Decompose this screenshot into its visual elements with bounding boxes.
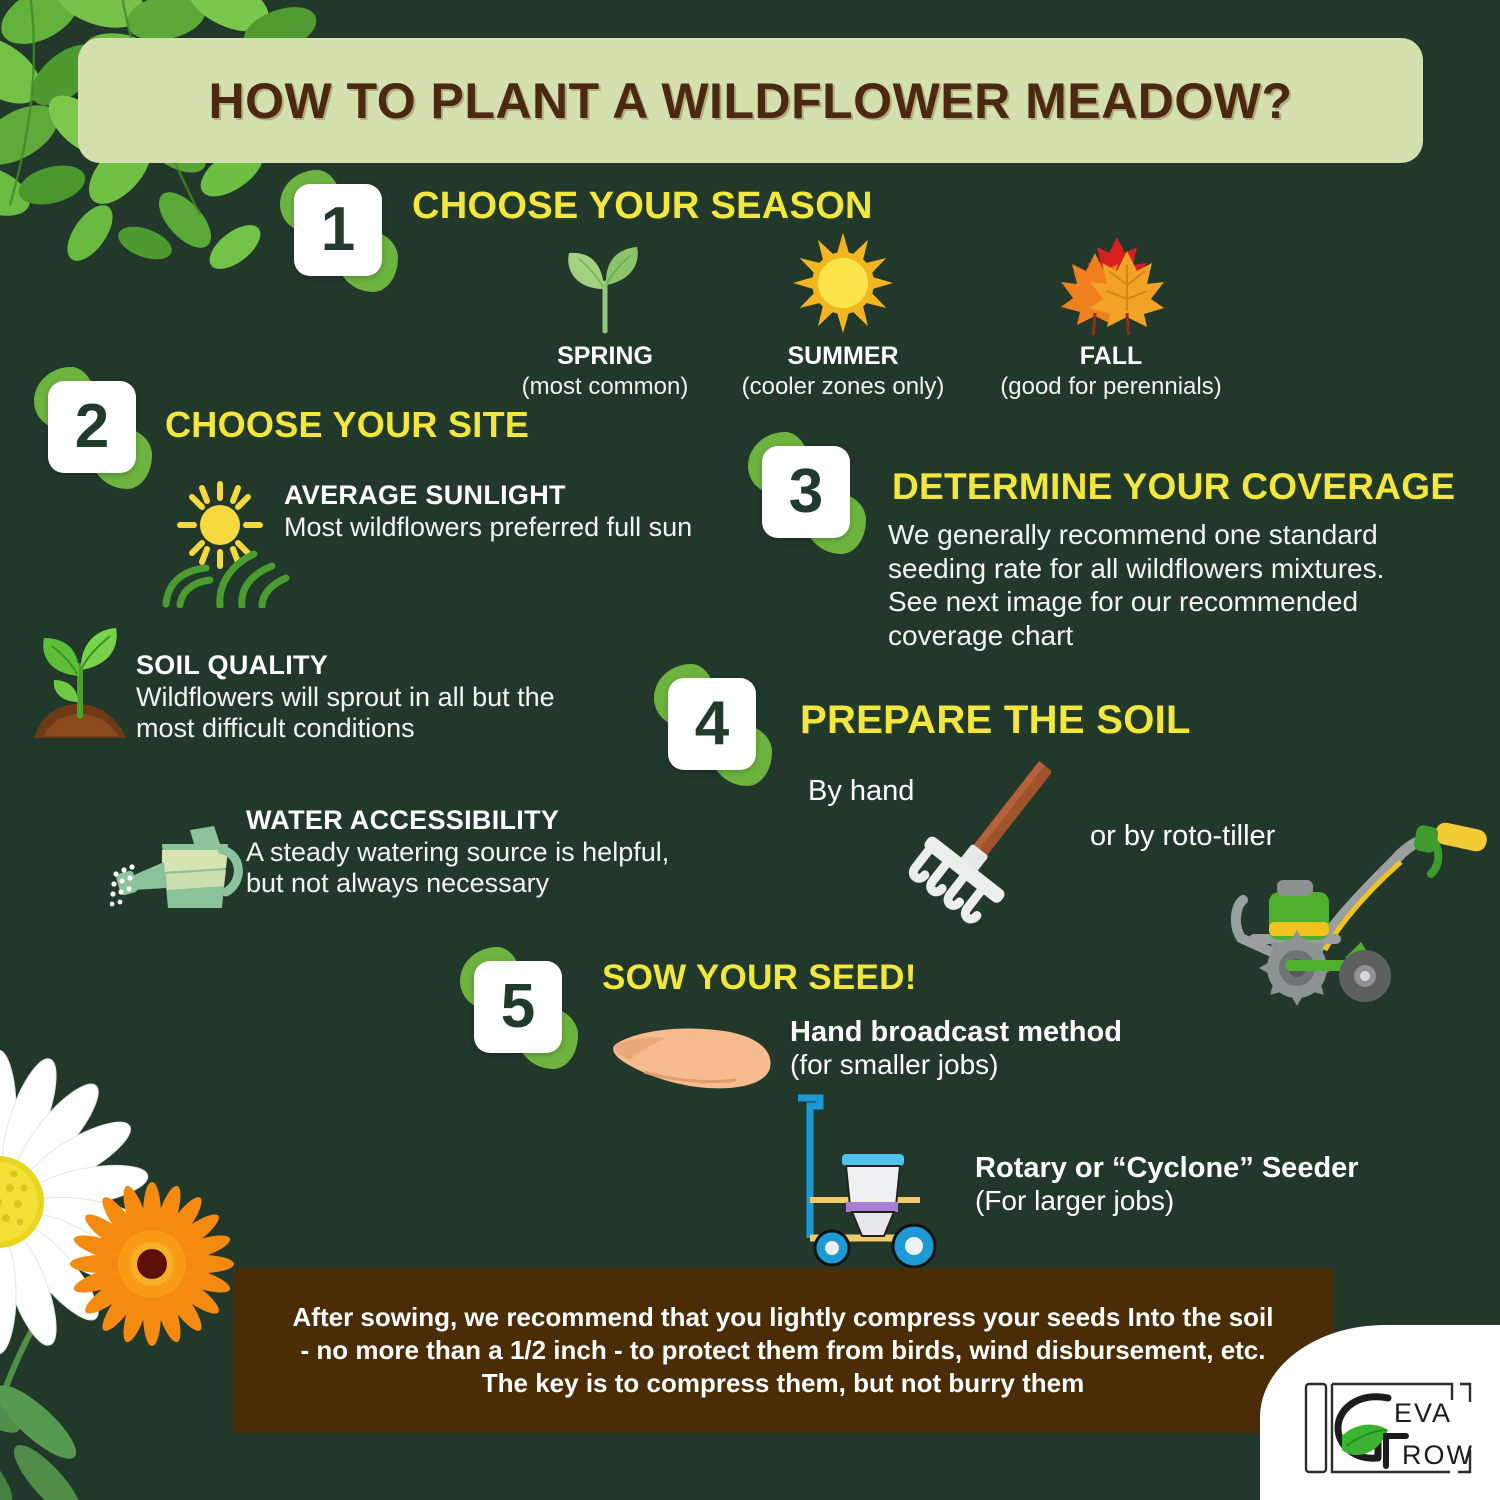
note-line-2: - no more than a 1/2 inch - to protect t… — [300, 1335, 1265, 1365]
season-note: (cooler zones only) — [728, 373, 958, 401]
step-1-heading: CHOOSE YOUR SEASON — [412, 185, 873, 228]
season-note: (good for perennials) — [996, 373, 1226, 401]
note-line-1: After sowing, we recommend that you ligh… — [293, 1302, 1274, 1332]
season-fall: FALL (good for perennials) — [996, 228, 1226, 401]
step-5-method-seeder: Rotary or “Cyclone” Seeder (For larger j… — [975, 1152, 1359, 1217]
step-5-method-hand: Hand broadcast method (for smaller jobs) — [790, 1016, 1122, 1081]
method-label: Rotary or “Cyclone” Seeder — [975, 1152, 1359, 1185]
geva-grow-logo[interactable]: EVA ROW — [1302, 1378, 1482, 1478]
roto-tiller-icon — [1215, 810, 1495, 1025]
method-label: Hand broadcast method — [790, 1016, 1122, 1049]
note-line-3: The key is to compress them, but not bur… — [482, 1368, 1084, 1398]
site-item-body: A steady watering source is helpful, but… — [246, 837, 676, 900]
site-item-title: SOIL QUALITY — [136, 650, 566, 681]
logo-word-top: EVA — [1394, 1398, 1452, 1428]
badge-square: 1 — [294, 184, 382, 276]
maple-leaf-icon — [996, 228, 1226, 338]
method-note: (for smaller jobs) — [790, 1049, 1122, 1081]
step-2-badge: 2 — [40, 375, 144, 479]
season-name: SUMMER — [728, 342, 958, 371]
season-name: SPRING — [490, 342, 720, 371]
sprout-in-soil-icon — [22, 620, 142, 750]
rotary-seeder-icon — [780, 1090, 970, 1270]
step-5-heading: SOW YOUR SEED! — [602, 958, 917, 998]
seedling-icon — [490, 228, 720, 338]
season-name: FALL — [996, 342, 1226, 371]
infographic-canvas: HOW TO PLANT A WILDFLOWER MEADOW? 1 CHOO… — [0, 0, 1500, 1500]
site-item-title: WATER ACCESSIBILITY — [246, 805, 676, 836]
svg-text:ROW: ROW — [1402, 1440, 1474, 1470]
sun-icon — [728, 228, 958, 338]
site-item-water: WATER ACCESSIBILITY A steady watering so… — [246, 805, 676, 900]
step-2-heading: CHOOSE YOUR SITE — [165, 404, 529, 446]
step-4-badge: 4 — [660, 672, 764, 776]
step-3-badge: 3 — [754, 440, 858, 544]
sun-over-field-icon — [158, 478, 298, 608]
step-4-number: 4 — [695, 693, 729, 755]
site-item-title: AVERAGE SUNLIGHT — [284, 480, 704, 511]
site-item-body: Most wildflowers preferred full sun — [284, 512, 704, 543]
season-summer: SUMMER (cooler zones only) — [728, 228, 958, 401]
step-1-badge: 1 — [286, 178, 390, 282]
method-note: (For larger jobs) — [975, 1185, 1359, 1217]
bottom-note-box: After sowing, we recommend that you ligh… — [233, 1268, 1333, 1433]
page-title-banner: HOW TO PLANT A WILDFLOWER MEADOW? — [78, 38, 1423, 163]
step-1-number: 1 — [321, 199, 355, 261]
flower-cluster-decoration — [0, 1030, 270, 1500]
rake-icon — [890, 745, 1090, 930]
badge-square: 3 — [762, 446, 850, 538]
site-item-sunlight: AVERAGE SUNLIGHT Most wildflowers prefer… — [284, 480, 704, 543]
badge-square: 2 — [48, 381, 136, 473]
badge-square: 5 — [474, 961, 562, 1053]
watering-can-icon — [110, 820, 250, 930]
step-4-heading: PREPARE THE SOIL — [800, 698, 1191, 743]
site-item-soil: SOIL QUALITY Wildflowers will sprout in … — [136, 650, 566, 745]
step-5-number: 5 — [501, 976, 535, 1038]
page-title: HOW TO PLANT A WILDFLOWER MEADOW? — [209, 72, 1293, 130]
step-2-number: 2 — [75, 396, 109, 458]
badge-square: 4 — [668, 678, 756, 770]
season-note: (most common) — [490, 373, 720, 401]
step-3-number: 3 — [789, 461, 823, 523]
site-item-body: Wildflowers will sprout in all but the m… — [136, 682, 566, 745]
season-spring: SPRING (most common) — [490, 228, 720, 401]
bottom-note-text: After sowing, we recommend that you ligh… — [293, 1301, 1274, 1399]
open-hand-icon — [608, 1020, 788, 1100]
step-3-body: We generally recommend one standard seed… — [888, 518, 1408, 652]
step-5-badge: 5 — [466, 955, 570, 1059]
step-3-heading: DETERMINE YOUR COVERAGE — [892, 466, 1455, 508]
